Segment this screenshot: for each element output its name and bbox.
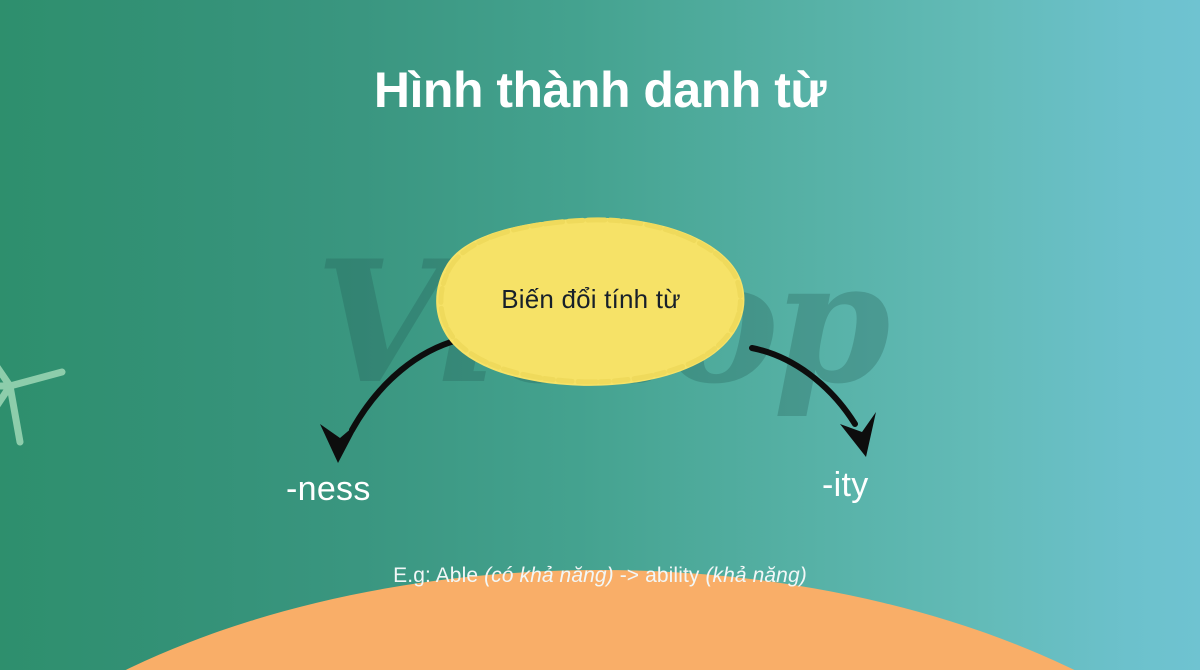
example-line: E.g: Able (có khả năng) -> ability (khả …	[0, 564, 1200, 588]
infographic-canvas: Vietop Hình thành danh từ Biến đổi tính …	[0, 0, 1200, 670]
example-result: ability	[645, 564, 705, 587]
branch-label-ity: -ity	[822, 466, 869, 505]
starburst-icon	[0, 330, 78, 450]
example-source-gloss: (có khả năng)	[484, 564, 614, 587]
branch-label-ness: -ness	[286, 470, 371, 509]
central-node-label: Biến đổi tính từ	[431, 214, 751, 388]
example-result-gloss: (khả năng)	[705, 564, 806, 587]
example-operator: ->	[614, 564, 645, 587]
page-title: Hình thành danh từ	[0, 62, 1200, 120]
curved-arrow-down-right-icon	[752, 348, 876, 457]
central-node: Biến đổi tính từ	[431, 214, 751, 388]
example-prefix: E.g: Able	[393, 564, 484, 587]
